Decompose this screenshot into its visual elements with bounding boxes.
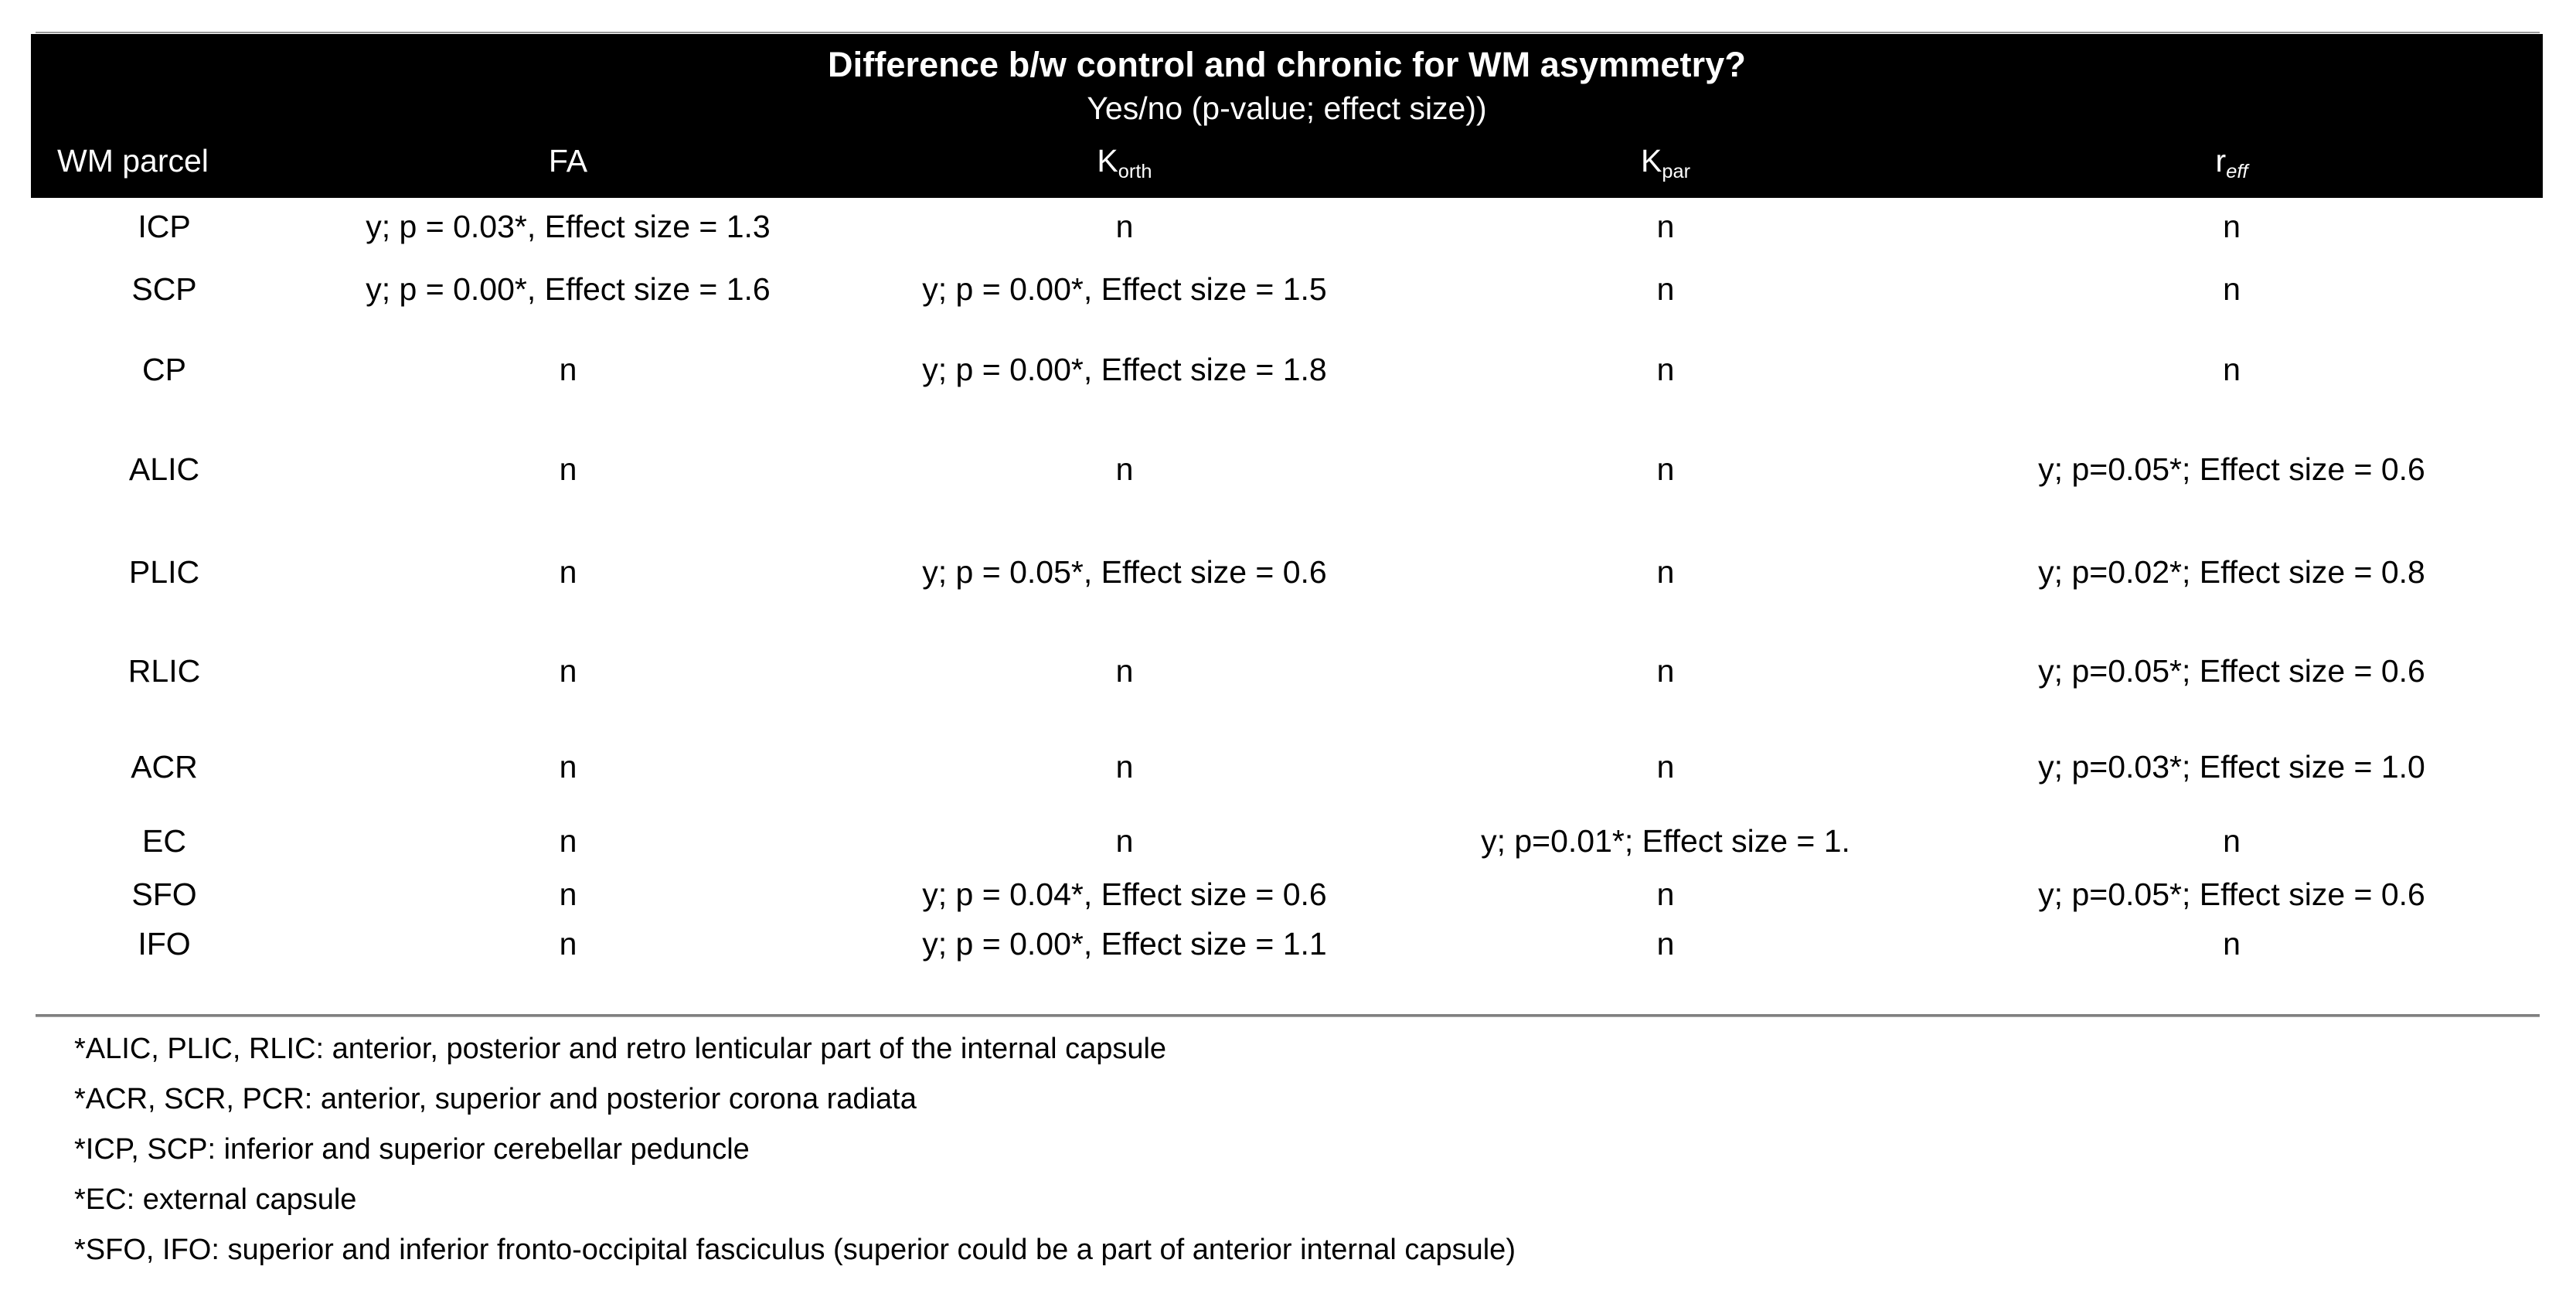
column-header-row: WM parcel FA Korth Kpar reff <box>31 141 2543 198</box>
table-row: ALIC n n n y; p=0.05*; Effect size = 0.6 <box>31 416 2543 523</box>
cell-ec-fa: n <box>298 813 839 869</box>
cell-ifo-korth: y; p = 0.00*, Effect size = 1.1 <box>839 920 1411 968</box>
row-label-alic: ALIC <box>31 416 298 523</box>
cell-icp-kpar: n <box>1411 198 1921 255</box>
cell-cp-fa: n <box>298 323 839 416</box>
table-body: ICP y; p = 0.03*, Effect size = 1.3 n n … <box>31 198 2543 968</box>
cell-rlic-kpar: n <box>1411 621 1921 720</box>
cell-scp-korth: y; p = 0.00*, Effect size = 1.5 <box>839 255 1411 323</box>
table-row: RLIC n n n y; p=0.05*; Effect size = 0.6 <box>31 621 2543 720</box>
footnote-item: *SFO, IFO: superior and inferior fronto-… <box>74 1235 2470 1285</box>
cell-alic-reff: y; p=0.05*; Effect size = 0.6 <box>1921 416 2543 523</box>
row-label-sfo: SFO <box>31 869 298 920</box>
footnote-item: *EC: external capsule <box>74 1185 2470 1235</box>
table-title-primary: Difference b/w control and chronic for W… <box>31 45 2543 85</box>
table-row: ACR n n n y; p=0.03*; Effect size = 1.0 <box>31 720 2543 813</box>
table-title-secondary: Yes/no (p-value; effect size)) <box>31 85 2543 128</box>
cell-plic-kpar: n <box>1411 523 1921 621</box>
cell-icp-fa: y; p = 0.03*, Effect size = 1.3 <box>298 198 839 255</box>
cell-ifo-fa: n <box>298 920 839 968</box>
column-header-reff-subscript: eff <box>2226 161 2248 182</box>
cell-plic-korth: y; p = 0.05*, Effect size = 0.6 <box>839 523 1411 621</box>
column-header-korth: Korth <box>839 141 1411 198</box>
column-header-kpar: Kpar <box>1411 141 1921 198</box>
cell-alic-kpar: n <box>1411 416 1921 523</box>
cell-plic-reff: y; p=0.02*; Effect size = 0.8 <box>1921 523 2543 621</box>
table-row: SCP y; p = 0.00*, Effect size = 1.6 y; p… <box>31 255 2543 323</box>
table-top-rule <box>36 32 2540 33</box>
cell-ec-reff: n <box>1921 813 2543 869</box>
footnote-item: *ICP, SCP: inferior and superior cerebel… <box>74 1135 2470 1185</box>
row-label-cp: CP <box>31 323 298 416</box>
row-label-ifo: IFO <box>31 920 298 968</box>
cell-scp-kpar: n <box>1411 255 1921 323</box>
cell-scp-reff: n <box>1921 255 2543 323</box>
cell-icp-reff: n <box>1921 198 2543 255</box>
slide-root: Difference b/w control and chronic for W… <box>0 0 2576 1314</box>
column-header-korth-subscript: orth <box>1118 161 1152 182</box>
table-row: PLIC n y; p = 0.05*, Effect size = 0.6 n… <box>31 523 2543 621</box>
cell-acr-reff: y; p=0.03*; Effect size = 1.0 <box>1921 720 2543 813</box>
cell-cp-korth: y; p = 0.00*, Effect size = 1.8 <box>839 323 1411 416</box>
table-header: Difference b/w control and chronic for W… <box>31 34 2543 198</box>
footnote-list: *ALIC, PLIC, RLIC: anterior, posterior a… <box>74 1034 2470 1285</box>
table-row: IFO n y; p = 0.00*, Effect size = 1.1 n … <box>31 920 2543 968</box>
row-label-ec: EC <box>31 813 298 869</box>
cell-acr-fa: n <box>298 720 839 813</box>
cell-cp-reff: n <box>1921 323 2543 416</box>
table-title-cell: Difference b/w control and chronic for W… <box>31 34 2543 141</box>
column-header-korth-base: K <box>1097 143 1118 179</box>
row-label-icp: ICP <box>31 198 298 255</box>
cell-sfo-korth: y; p = 0.04*, Effect size = 0.6 <box>839 869 1411 920</box>
cell-alic-korth: n <box>839 416 1411 523</box>
row-label-rlic: RLIC <box>31 621 298 720</box>
column-header-reff-base: r <box>2216 143 2227 179</box>
cell-sfo-kpar: n <box>1411 869 1921 920</box>
row-label-acr: ACR <box>31 720 298 813</box>
column-header-kpar-base: K <box>1641 143 1662 179</box>
table-bottom-rule <box>36 1014 2540 1017</box>
table-row: SFO n y; p = 0.04*, Effect size = 0.6 n … <box>31 869 2543 920</box>
cell-cp-kpar: n <box>1411 323 1921 416</box>
column-header-kpar-subscript: par <box>1662 161 1690 182</box>
cell-rlic-fa: n <box>298 621 839 720</box>
cell-ifo-reff: n <box>1921 920 2543 968</box>
results-table-container: Difference b/w control and chronic for W… <box>31 34 2543 968</box>
cell-rlic-korth: n <box>839 621 1411 720</box>
table-title-row: Difference b/w control and chronic for W… <box>31 34 2543 141</box>
footnote-item: *ACR, SCR, PCR: anterior, superior and p… <box>74 1084 2470 1135</box>
row-label-scp: SCP <box>31 255 298 323</box>
footnote-item: *ALIC, PLIC, RLIC: anterior, posterior a… <box>74 1034 2470 1084</box>
cell-ec-kpar: y; p=0.01*; Effect size = 1. <box>1411 813 1921 869</box>
table-row: EC n n y; p=0.01*; Effect size = 1. n <box>31 813 2543 869</box>
cell-scp-fa: y; p = 0.00*, Effect size = 1.6 <box>298 255 839 323</box>
cell-sfo-fa: n <box>298 869 839 920</box>
cell-acr-kpar: n <box>1411 720 1921 813</box>
cell-alic-fa: n <box>298 416 839 523</box>
wm-asymmetry-table: Difference b/w control and chronic for W… <box>31 34 2543 968</box>
cell-ec-korth: n <box>839 813 1411 869</box>
cell-sfo-reff: y; p=0.05*; Effect size = 0.6 <box>1921 869 2543 920</box>
cell-ifo-kpar: n <box>1411 920 1921 968</box>
table-row: ICP y; p = 0.03*, Effect size = 1.3 n n … <box>31 198 2543 255</box>
column-header-parcel: WM parcel <box>31 141 298 198</box>
table-row: CP n y; p = 0.00*, Effect size = 1.8 n n <box>31 323 2543 416</box>
column-header-reff: reff <box>1921 141 2543 198</box>
cell-rlic-reff: y; p=0.05*; Effect size = 0.6 <box>1921 621 2543 720</box>
cell-icp-korth: n <box>839 198 1411 255</box>
column-header-fa: FA <box>298 141 839 198</box>
cell-acr-korth: n <box>839 720 1411 813</box>
row-label-plic: PLIC <box>31 523 298 621</box>
cell-plic-fa: n <box>298 523 839 621</box>
